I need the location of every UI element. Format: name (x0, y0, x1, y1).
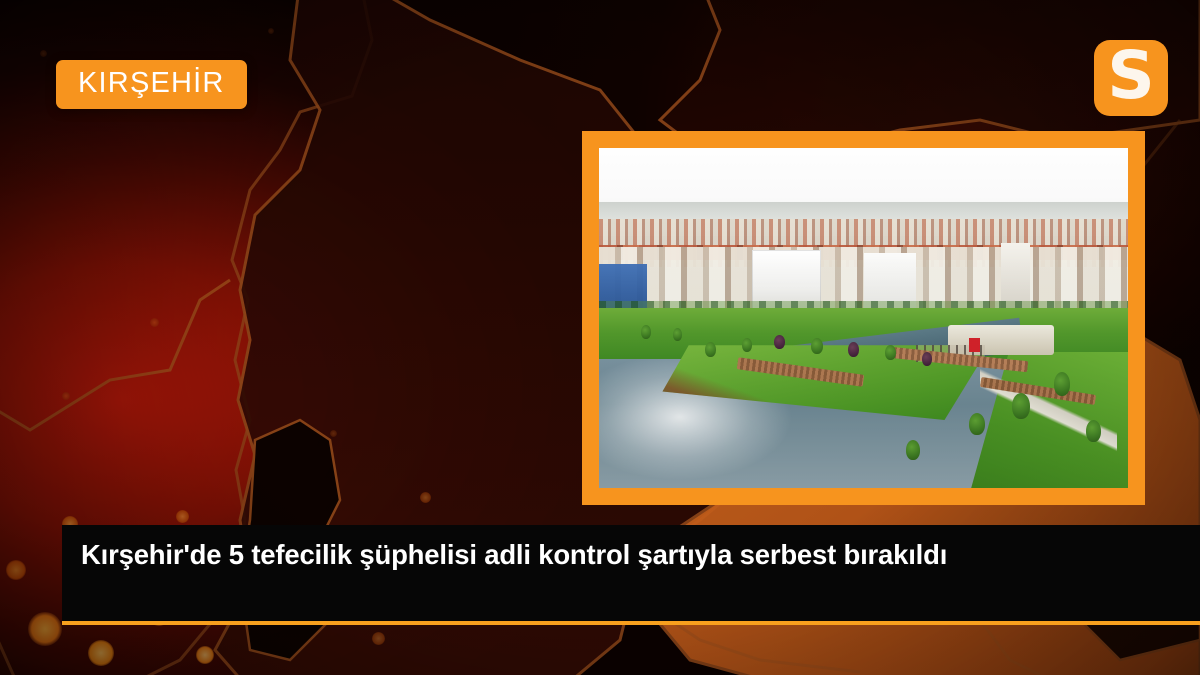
photo-frame (582, 131, 1145, 505)
headline-text: Kırşehir'de 5 tefecilik şüphelisi adli k… (81, 537, 1180, 574)
brand-logo-letter: S (1107, 43, 1155, 109)
city-aerial-photo (599, 148, 1128, 488)
photo-tone-overlay (599, 148, 1128, 488)
news-card-stage: KIRŞEHİR S (0, 0, 1200, 675)
headline-panel: Kırşehir'de 5 tefecilik şüphelisi adli k… (62, 525, 1200, 625)
city-badge: KIRŞEHİR (56, 60, 247, 109)
brand-logo[interactable]: S (1094, 40, 1168, 116)
